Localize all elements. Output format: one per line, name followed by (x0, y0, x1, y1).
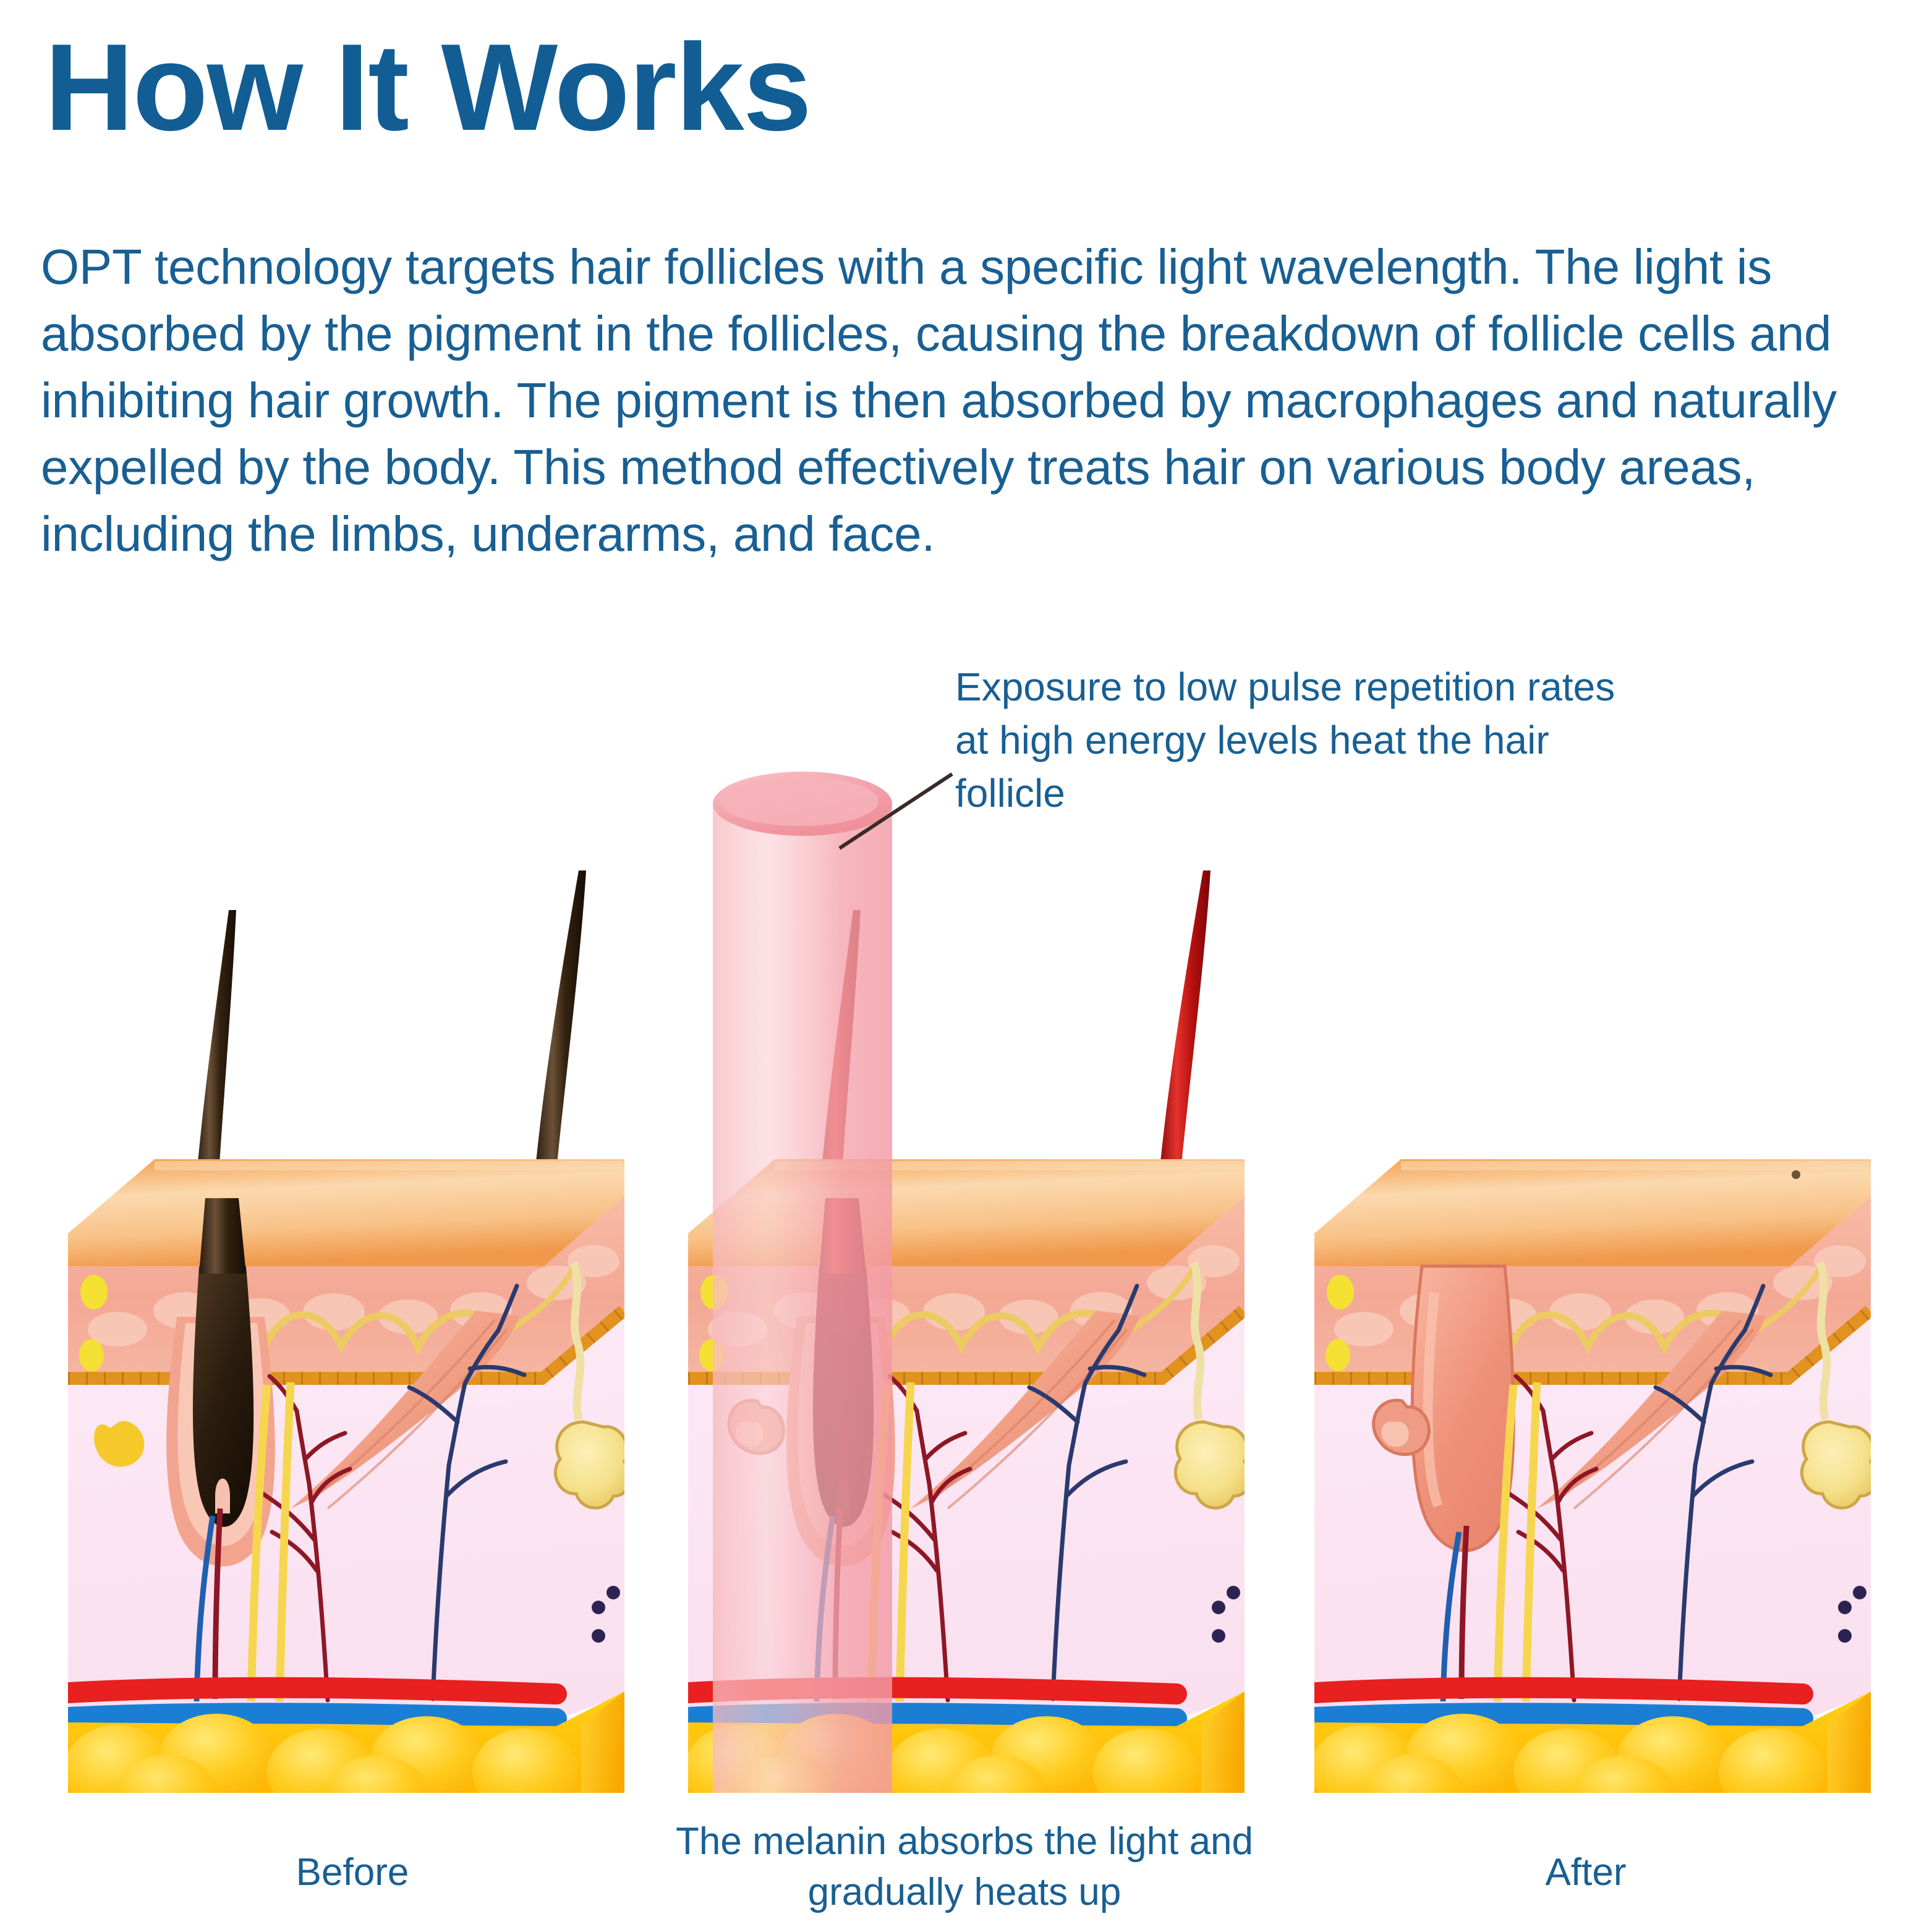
capillary-artery-2 (881, 1376, 970, 1700)
nerve-fiber-b-3 (1526, 1382, 1537, 1701)
nerve-fiber-a-2 (871, 1385, 887, 1701)
melanocytes (79, 1275, 108, 1371)
follicle-vein-3 (1443, 1532, 1459, 1701)
follicle-artery-2 (835, 1509, 840, 1699)
sweat-duct (574, 1262, 581, 1419)
empty-follicle (1412, 1266, 1513, 1551)
sebaceous-gland-3 (1374, 1400, 1429, 1454)
sweat-duct-3 (1820, 1262, 1827, 1419)
subcutaneous-fat-3 (1314, 1692, 1871, 1793)
panel-after (1311, 1159, 1877, 1831)
epidermis-top-face (68, 1159, 624, 1266)
caption-during: The melanin absorbs the light and gradua… (668, 1816, 1261, 1918)
capillary-artery (261, 1376, 350, 1700)
arrector-pili-muscle (291, 1311, 519, 1509)
hair-shaft-right (534, 870, 586, 1183)
caption-before: Before (80, 1847, 624, 1898)
sebaceous-gland-3b (1381, 1421, 1408, 1447)
basement-membrane-dashes-3 (1314, 1312, 1871, 1380)
artery-main-2 (688, 1688, 1177, 1694)
capillary-venule-3 (1656, 1286, 1771, 1699)
sweat-duct-2 (1194, 1262, 1201, 1419)
nerve-plexus-branch-3 (1748, 1266, 1821, 1335)
dermis-2 (688, 1318, 1245, 1725)
nerve-plexus-2 (806, 1313, 1122, 1351)
sebaceous-gland (94, 1421, 144, 1467)
hair-shaft-left-heated (820, 910, 861, 1192)
fat-side-face-2 (1201, 1692, 1245, 1793)
callout-leader-line (840, 774, 952, 848)
muscle-striation-2 (929, 1320, 1127, 1509)
nerve-fiber-b-2 (900, 1382, 911, 1701)
hair-shaft-left (195, 910, 236, 1192)
epidermis-band (68, 1196, 624, 1379)
arrector-pili-muscle-3 (1537, 1311, 1766, 1509)
pigment-dots (592, 1586, 620, 1643)
page-title: How It Works (45, 26, 811, 150)
dermal-papilla-2 (835, 1479, 850, 1514)
panel-during (684, 772, 1251, 1831)
basement-membrane (68, 1312, 624, 1380)
fat-globules (64, 1714, 579, 1831)
epidermis-top-edge-highlight-3 (1401, 1161, 1869, 1170)
intro-paragraph: OPT technology targets hair follicles wi… (41, 234, 1889, 568)
sweat-gland (555, 1422, 630, 1508)
hair-shaft-right-heated (1159, 870, 1211, 1183)
fat-globules-2 (684, 1714, 1199, 1831)
beam-cylinder-top (713, 772, 892, 836)
papillae-3 (1334, 1245, 1866, 1347)
follicle-artery-3 (1462, 1526, 1466, 1699)
dermis (68, 1318, 624, 1725)
beam-cylinder-body (713, 804, 892, 1793)
epidermis-top-face-3 (1314, 1159, 1871, 1266)
nerve-fiber-a-3 (1497, 1385, 1513, 1701)
sebaceous-gland-2b (736, 1421, 763, 1447)
capillary-venule (409, 1286, 524, 1699)
nerve-plexus (185, 1313, 502, 1351)
subcutaneous-fat (68, 1692, 624, 1793)
epidermis-top-face-2 (688, 1159, 1245, 1266)
fat-side-face-3 (1828, 1692, 1871, 1793)
vein-main (68, 1713, 556, 1719)
epidermis-band-3 (1314, 1196, 1871, 1379)
hair-shaft-in-skin (199, 1198, 246, 1274)
beam-cylinder-top-inner (720, 777, 879, 826)
nerve-plexus-3 (1432, 1313, 1748, 1351)
follicle-vein-2 (817, 1516, 833, 1701)
artery-main-3 (1314, 1688, 1803, 1694)
epidermis-top-edge-highlight (155, 1161, 623, 1170)
dermis-3 (1314, 1318, 1871, 1725)
fat-side-face (581, 1692, 624, 1793)
vein-main-2 (688, 1713, 1177, 1719)
arrector-pili-muscle-2 (911, 1311, 1139, 1509)
light-beam (713, 772, 892, 1793)
subcutaneous-fat-2 (688, 1692, 1245, 1793)
muscle-striation (309, 1320, 507, 1509)
sebaceous-gland-2 (729, 1400, 784, 1453)
muscle-striation-3 (1555, 1320, 1753, 1509)
sweat-gland-3 (1802, 1422, 1876, 1508)
follicle-sheath-inner (177, 1323, 265, 1546)
beam-callout-text: Exposure to low pulse repetition rates a… (955, 660, 1648, 820)
melanocytes-3 (1326, 1275, 1354, 1371)
infographic-page: How It Works OPT technology targets hair… (0, 0, 1932, 1932)
empty-follicle-highlight (1428, 1292, 1439, 1506)
basement-membrane-dashes-2 (688, 1312, 1245, 1380)
papillae-2 (708, 1245, 1240, 1347)
nerve-fiber-a (251, 1385, 267, 1701)
skin-speck (1792, 1170, 1800, 1179)
nerve-plexus-branch (502, 1266, 575, 1335)
papillae (88, 1245, 619, 1347)
follicle-sheath (166, 1317, 275, 1567)
fat-globules-3 (1311, 1714, 1825, 1831)
nerve-fiber-b (279, 1382, 291, 1701)
sweat-gland-2 (1175, 1422, 1250, 1508)
basement-membrane-2 (688, 1312, 1245, 1380)
follicle-artery (215, 1509, 220, 1699)
follicle-sheath-2 (786, 1317, 895, 1567)
basement-membrane-3 (1314, 1312, 1871, 1380)
panel-before (64, 870, 631, 1831)
melanocytes-2 (699, 1275, 728, 1371)
pigment-dots-2 (1212, 1586, 1240, 1643)
follicle-vein (197, 1516, 213, 1701)
capillary-artery-3 (1507, 1376, 1596, 1700)
nerve-plexus-branch-2 (1122, 1266, 1195, 1335)
hair-shaft-in-skin-heated (819, 1198, 866, 1274)
follicle-sheath-inner-2 (798, 1323, 885, 1546)
epidermis-band-2 (688, 1196, 1245, 1379)
epidermis-top-edge-highlight-2 (775, 1161, 1243, 1170)
hair-root-bulb-heated (813, 1266, 874, 1527)
pigment-dots-3 (1838, 1586, 1866, 1643)
capillary-venule-2 (1029, 1286, 1144, 1699)
basement-membrane-dashes (68, 1312, 624, 1380)
caption-after: After (1311, 1847, 1861, 1898)
hair-root-bulb (193, 1266, 253, 1527)
dermal-papilla (215, 1479, 230, 1514)
vein-main-3 (1314, 1713, 1803, 1719)
artery-main (68, 1688, 556, 1694)
